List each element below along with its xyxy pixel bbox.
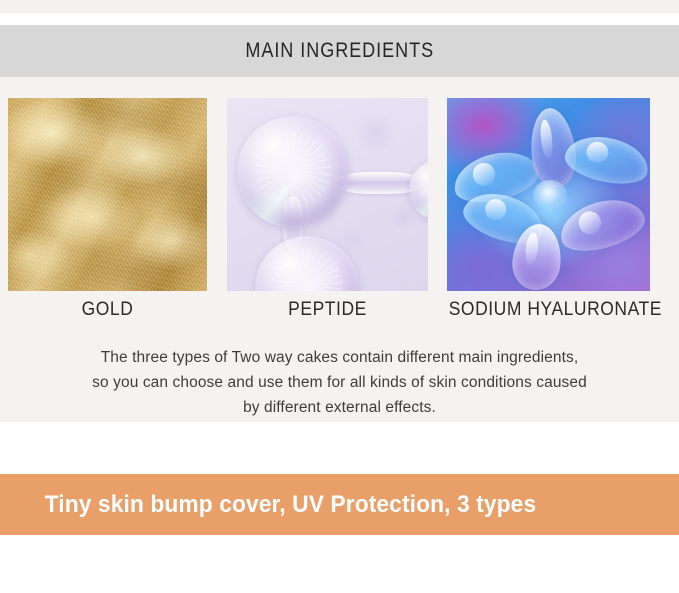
section-title: MAIN INGREDIENTS [245,39,434,63]
hyaluronate-center-highlight-icon [533,180,567,210]
ingredient-label-peptide: PEPTIDE [235,299,420,321]
section-white-gap [0,422,679,474]
bottom-white-area [0,535,679,593]
description-paragraph: The three types of Two way cakes contain… [0,345,679,420]
ingredient-label-sodium-hyaluronate: SODIUM HYALURONATE [449,299,650,321]
description-line: by different external effects. [0,395,679,420]
top-background-strip [0,0,679,13]
description-line: The three types of Two way cakes contain… [0,345,679,370]
description-line: so you can choose and use them for all k… [0,370,679,395]
peptide-image-tile [227,98,428,291]
product-detail-page: MAIN INGREDIENTS [0,0,679,593]
top-white-gap [0,13,679,25]
feature-banner-text: Tiny skin bump cover, UV Protection, 3 t… [0,491,536,519]
sodium-hyaluronate-image-tile [447,98,650,291]
ingredient-image-row [0,98,679,291]
main-content-block: GOLD PEPTIDE SODIUM HYALURONATE The thre… [0,77,679,422]
gold-grain-overlay [8,98,207,291]
ingredient-label-gold: GOLD [16,299,199,321]
gold-image-tile [8,98,207,291]
section-title-band: MAIN INGREDIENTS [0,25,679,77]
ingredient-caption-row: GOLD PEPTIDE SODIUM HYALURONATE [0,299,679,329]
peptide-frost-detail-icon [255,132,331,208]
feature-banner: Tiny skin bump cover, UV Protection, 3 t… [0,474,679,535]
